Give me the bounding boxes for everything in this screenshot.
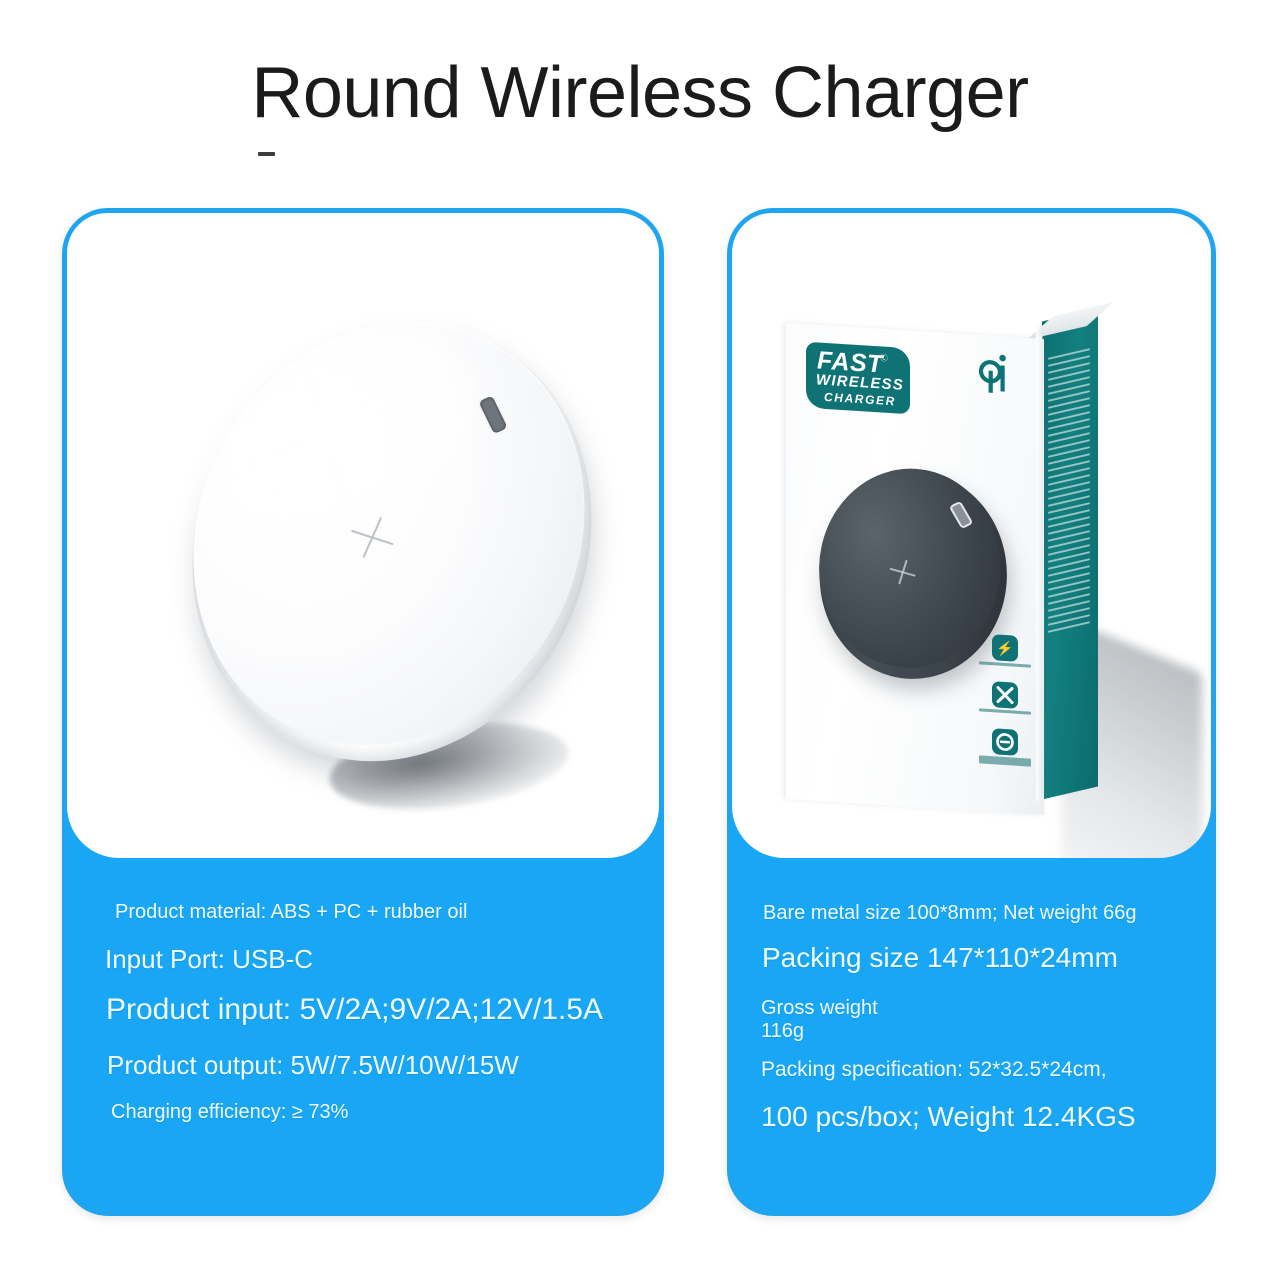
box-feature-caption (979, 755, 1032, 766)
packaging-spec-list: Bare metal size 100*8mm; Net weight 66g … (732, 858, 1211, 1211)
spec-product-output: Product output: 5W/7.5W/10W/15W (107, 1050, 519, 1081)
circular-arrow-icon (992, 728, 1018, 756)
box-feature-caption (979, 708, 1032, 714)
retail-box: FAST Ⓒ WIRELESS CHARGER (786, 313, 1136, 825)
lightning-bolt-icon: ⚡ (992, 634, 1018, 662)
packaging-card: FAST Ⓒ WIRELESS CHARGER (727, 208, 1216, 1216)
spec-gross-weight: Gross weight 116g (761, 997, 878, 1043)
box-feature-smart-protect (972, 727, 1038, 767)
box-label-trademark-icon: Ⓒ (880, 352, 888, 364)
x-cross-icon (992, 681, 1018, 709)
spec-packing-specification: Packing specification: 52*32.5*24cm, (761, 1058, 1107, 1082)
box-feature-caption (979, 661, 1032, 667)
spec-charging-efficiency: Charging efficiency: ≥ 73% (111, 1101, 348, 1124)
spec-bare-metal-size: Bare metal size 100*8mm; Net weight 66g (763, 902, 1137, 925)
box-brand-label: FAST Ⓒ WIRELESS CHARGER (806, 342, 910, 415)
product-card: Product material: ABS + PC + rubber oil … (62, 208, 664, 1216)
box-feature-icon-list: ⚡ (972, 633, 1038, 783)
retail-box-illustration: FAST Ⓒ WIRELESS CHARGER (732, 213, 1211, 858)
spec-pcs-per-box: 100 pcs/box; Weight 12.4KGS (761, 1101, 1136, 1133)
page-title: Round Wireless Charger (0, 54, 1280, 133)
spec-product-material: Product material: ABS + PC + rubber oil (115, 901, 467, 924)
spec-product-input: Product input: 5V/2A;9V/2A;12V/1.5A (106, 993, 603, 1027)
box-feature-anti-interference (972, 680, 1038, 715)
product-spec-list: Product material: ABS + PC + rubber oil … (67, 858, 659, 1211)
packaging-image-panel: FAST Ⓒ WIRELESS CHARGER (732, 213, 1211, 858)
title-underline-dash (258, 152, 275, 156)
wireless-charger-puck (125, 273, 658, 811)
box-feature-fast-charge: ⚡ (972, 633, 1038, 668)
qi-logo-icon (978, 350, 1012, 398)
product-image-panel (67, 213, 659, 858)
charger-illustration (67, 213, 659, 858)
spec-packing-size: Packing size 147*110*24mm (762, 942, 1118, 974)
box-side-fineprint (1048, 348, 1090, 688)
spec-input-port: Input Port: USB-C (105, 944, 313, 975)
